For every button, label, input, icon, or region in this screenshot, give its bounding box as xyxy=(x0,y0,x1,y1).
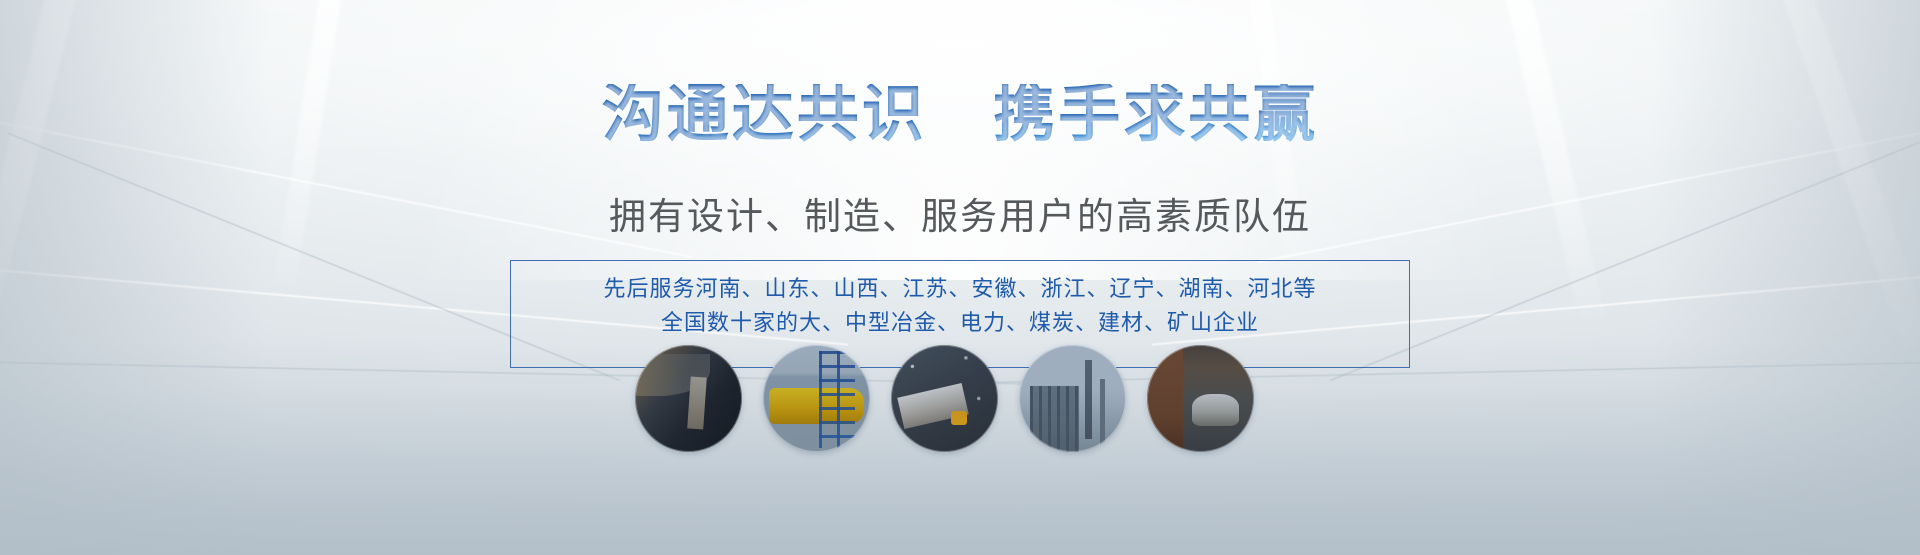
photo-ring-5 xyxy=(1147,345,1254,452)
promo-banner: 沟通达共识 携手求共赢 拥有设计、制造、服务用户的高素质队伍 先后服务河南、山东… xyxy=(0,0,1920,555)
banner-title: 沟通达共识 携手求共赢 xyxy=(0,84,1920,146)
photo-ring-4 xyxy=(1019,345,1126,452)
title-phrase-1: 沟通达共识 xyxy=(602,80,927,149)
photo-ring-1 xyxy=(635,345,742,452)
thumbnail-steel-tank-worker[interactable] xyxy=(635,345,742,452)
thumbnail-crate-pallet[interactable] xyxy=(891,345,998,452)
thumbnail-row xyxy=(635,345,1355,452)
thumbnail-workshop-equipment[interactable] xyxy=(1147,345,1254,452)
info-text-block: 先后服务河南、山东、山西、江苏、安徽、浙江、辽宁、湖南、河北等 全国数十家的大、… xyxy=(0,272,1920,340)
banner-subtitle: 拥有设计、制造、服务用户的高素质队伍 xyxy=(0,198,1920,235)
title-phrase-2: 携手求共赢 xyxy=(993,80,1318,149)
thumbnail-industrial-plant[interactable] xyxy=(1019,345,1126,452)
thumbnail-yellow-machinery[interactable] xyxy=(763,345,870,452)
photo-ring-2 xyxy=(763,345,870,452)
photo-ring-3 xyxy=(891,345,998,452)
info-line-1: 先后服务河南、山东、山西、江苏、安徽、浙江、辽宁、湖南、河北等 xyxy=(0,272,1920,306)
info-line-2: 全国数十家的大、中型冶金、电力、煤炭、建材、矿山企业 xyxy=(0,306,1920,340)
